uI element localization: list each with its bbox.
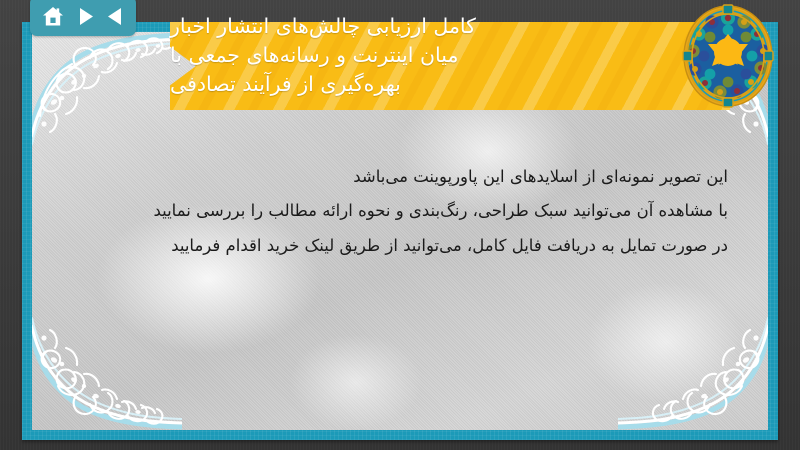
body-line-2: با مشاهده آن می‌توانید سبک طراحی، رنگ‌بن… <box>72 194 728 228</box>
slide-navigation-bar[interactable] <box>30 0 136 36</box>
arabesque-corner-top-left-icon <box>32 32 182 152</box>
body-line-1: این تصویر نمونه‌ای از اسلایدهای این پاور… <box>72 160 728 194</box>
arabesque-corner-bottom-right-icon <box>618 310 768 430</box>
previous-slide-icon[interactable] <box>107 7 124 26</box>
home-icon[interactable] <box>42 6 64 27</box>
arabesque-corner-bottom-left-icon <box>32 310 182 430</box>
next-slide-icon[interactable] <box>77 7 94 26</box>
slide-stage: این تصویر نمونه‌ای از اسلایدهای این پاور… <box>0 0 800 450</box>
slide-body-text: این تصویر نمونه‌ای از اسلایدهای این پاور… <box>72 160 728 263</box>
body-line-3: در صورت تمایل به دریافت فایل کامل، می‌تو… <box>72 229 728 263</box>
title-banner <box>170 22 730 110</box>
persian-medallion-icon <box>682 4 774 108</box>
